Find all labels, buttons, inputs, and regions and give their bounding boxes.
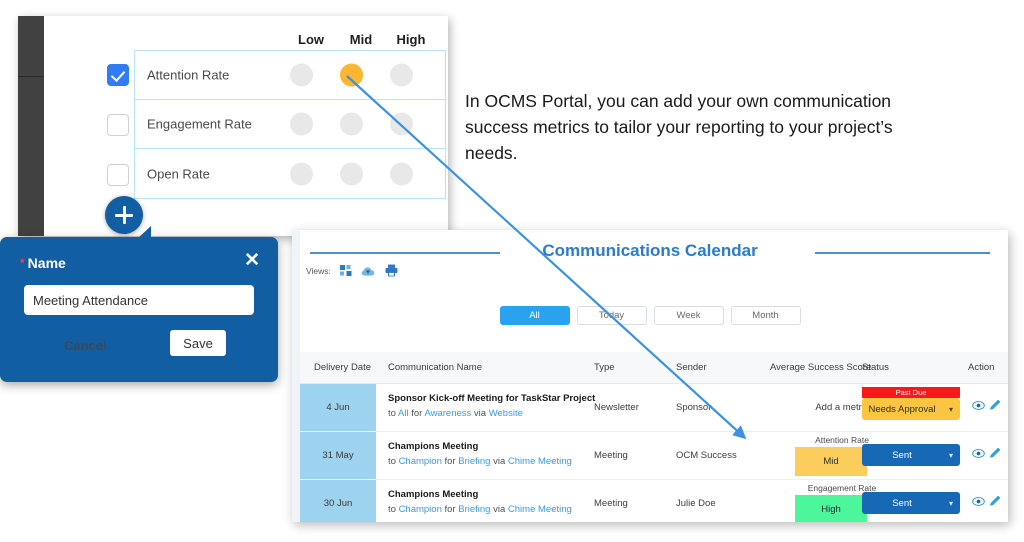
column-header-sender: Sender [676,362,707,373]
detail-channel-link[interactable]: Chime Meeting [508,504,572,515]
detail-audience-link[interactable]: Champion [399,456,442,467]
cell-delivery-date: 31 May [300,432,376,479]
screenshot-root: Low Mid High Attention Rate Engagement R… [0,0,1024,542]
metric-dot-high[interactable] [390,162,413,185]
status-dropdown[interactable]: Needs Approval ▾ [862,398,960,420]
view-eye-icon[interactable] [972,494,985,512]
detail-audience-link[interactable]: Champion [399,504,442,515]
edit-pencil-icon[interactable] [989,398,1001,416]
column-header-type: Type [594,362,615,373]
status-dropdown[interactable]: Sent ▾ [862,444,960,466]
cell-type: Meeting [594,498,628,509]
detail-for-label: for [442,504,458,515]
cell-communication-detail: to Champion for Briefing via Chime Meeti… [388,456,572,467]
score-pill-mid[interactable]: Mid [795,447,867,476]
cell-communication-detail: to All for Awareness via Website [388,408,523,419]
cell-communication-name: Champions Meeting [388,489,478,500]
cell-status: Sent ▾ [862,480,972,522]
app-left-rail [18,16,44,236]
upload-cloud-icon[interactable] [361,265,376,277]
cell-sender: Sponsor [676,402,711,413]
name-dialog: *Name ✕ Cancel Save [0,237,278,382]
close-icon[interactable]: ✕ [244,251,260,270]
cell-delivery-date: 4 Jun [300,384,376,431]
column-header-average-success-score: Average Success Score [770,362,871,373]
communications-calendar-window: Communications Calendar Delivery Date Co… [292,230,1008,522]
chevron-down-icon: ▾ [942,405,960,414]
cell-action [972,494,1001,512]
views-label: Views: [306,266,331,276]
cell-type: Newsletter [594,402,639,413]
metric-dot-low[interactable] [290,162,313,185]
cell-type: Meeting [594,450,628,461]
metric-label: Engagement Rate [147,117,252,132]
calendar-left-rail [292,230,300,522]
metric-dot-high[interactable] [390,64,413,87]
edit-pencil-icon[interactable] [989,446,1001,464]
chevron-down-icon: ▾ [942,499,960,508]
level-header-low: Low [288,32,334,47]
views-toolbar: Views: [306,264,398,277]
detail-for-label: for [409,408,425,419]
cell-status: Past Due Needs Approval ▾ [862,384,972,431]
name-input[interactable] [24,285,254,315]
detail-to-label: to [388,504,399,515]
cell-action [972,398,1001,416]
detail-audience-link[interactable]: All [398,408,409,419]
chevron-down-icon: ▾ [942,451,960,460]
detail-purpose-link[interactable]: Awareness [424,408,471,419]
cell-action [972,446,1001,464]
column-header-action: Action [968,362,994,373]
status-dropdown-value: Sent [862,450,942,461]
status-dropdown[interactable]: Sent ▾ [862,492,960,514]
table-row[interactable]: 4 Jun Sponsor Kick-off Meeting for TaskS… [300,384,1008,432]
cancel-button[interactable]: Cancel [58,337,113,354]
cell-status: Sent ▾ [862,432,972,479]
cell-communication-detail: to Champion for Briefing via Chime Meeti… [388,504,572,515]
column-header-delivery-date: Delivery Date [314,362,371,373]
cell-communication-name: Champions Meeting [388,441,478,452]
metric-dot-low[interactable] [290,113,313,136]
level-header-mid: Mid [338,32,384,47]
metric-checkbox-attention-rate[interactable] [107,64,129,86]
status-dropdown-value: Sent [862,498,942,509]
required-asterisk-icon: * [20,256,25,270]
grid-view-icon[interactable] [340,265,352,277]
metric-label: Open Rate [147,166,210,181]
range-tab-today[interactable]: Today [577,306,647,325]
score-pill-high[interactable]: High [795,495,867,522]
metric-dot-mid[interactable] [340,162,363,185]
range-tab-week[interactable]: Week [654,306,724,325]
status-badge-past-due: Past Due [862,387,960,398]
annotation-text: In OCMS Portal, you can add your own com… [465,88,895,166]
metric-dot-mid[interactable] [340,64,363,87]
save-button[interactable]: Save [170,330,226,356]
detail-via-label: via [490,504,507,515]
calendar-table: Delivery Date Communication Name Type Se… [300,352,1008,522]
range-filter-tabs: All Today Week Month [292,306,1008,325]
dialog-pointer-tail [138,226,151,238]
rail-seam [18,76,44,77]
detail-via-label: via [471,408,488,419]
metric-window-body: Low Mid High Attention Rate Engagement R… [44,16,448,236]
detail-to-label: to [388,408,398,419]
detail-purpose-link[interactable]: Briefing [458,456,490,467]
metric-row: Engagement Rate [135,100,445,149]
metric-dot-low[interactable] [290,64,313,87]
metric-checkbox-engagement-rate[interactable] [107,114,129,136]
level-header-high: High [388,32,434,47]
column-header-status: Status [862,362,889,373]
name-field-label: *Name [20,255,66,271]
metric-row: Open Rate [135,149,445,198]
metric-checkbox-open-rate[interactable] [107,164,129,186]
table-header-row: Delivery Date Communication Name Type Se… [300,352,1008,384]
metric-label: Attention Rate [147,68,229,83]
detail-to-label: to [388,456,399,467]
cell-delivery-date: 30 Jun [300,480,376,522]
detail-channel-link[interactable]: Website [489,408,523,419]
range-tab-month[interactable]: Month [731,306,801,325]
view-eye-icon[interactable] [972,446,985,464]
cell-sender: Julie Doe [676,498,716,509]
cell-communication-name: Sponsor Kick-off Meeting for TaskStar Pr… [388,393,595,404]
edit-pencil-icon[interactable] [989,494,1001,512]
column-header-communication-name: Communication Name [388,362,482,373]
page-title: Communications Calendar [292,241,1008,261]
metric-dot-high[interactable] [390,113,413,136]
metric-table: Attention Rate Engagement Rate Open Rate [134,50,446,199]
range-tab-all[interactable]: All [500,306,570,325]
detail-via-label: via [490,456,507,467]
metric-row: Attention Rate [135,51,445,100]
detail-purpose-link[interactable]: Briefing [458,504,490,515]
print-icon[interactable] [385,264,398,277]
metric-selection-window: Low Mid High Attention Rate Engagement R… [18,16,448,236]
table-row[interactable]: 31 May Champions Meeting to Champion for… [300,432,1008,480]
table-row[interactable]: 30 Jun Champions Meeting to Champion for… [300,480,1008,522]
status-dropdown-value: Needs Approval [862,404,942,415]
view-eye-icon[interactable] [972,398,985,416]
metric-dot-mid[interactable] [340,113,363,136]
cell-sender: OCM Success [676,450,737,461]
detail-for-label: for [442,456,458,467]
name-label-text: Name [28,255,66,271]
detail-channel-link[interactable]: Chime Meeting [508,456,572,467]
